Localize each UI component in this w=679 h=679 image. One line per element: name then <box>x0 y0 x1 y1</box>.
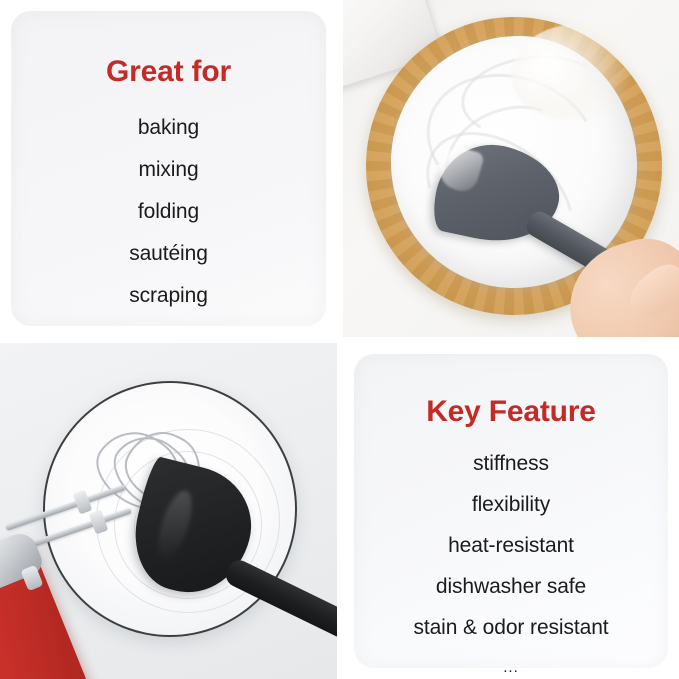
product-feature-infographic: Great for baking mixing folding sautéing… <box>0 0 679 679</box>
list-item: sautéing <box>11 243 326 264</box>
list-item: baking <box>11 117 326 138</box>
thumb <box>621 257 679 327</box>
great-for-ellipsis: ... <box>161 329 177 337</box>
key-feature-list: stiffness flexibility heat-resistant dis… <box>354 453 668 658</box>
key-feature-ellipsis: ... <box>503 660 519 675</box>
great-for-list: baking mixing folding sautéing scraping <box>11 117 326 327</box>
great-for-panel-background: Great for baking mixing folding sautéing… <box>0 0 337 337</box>
key-feature-title: Key Feature <box>426 397 596 427</box>
sugar-crumb-edge <box>511 24 637 120</box>
key-feature-card: Key Feature stiffness flexibility heat-r… <box>354 354 668 668</box>
panel-great-for: Great for baking mixing folding sautéing… <box>0 0 337 337</box>
key-feature-content: Key Feature stiffness flexibility heat-r… <box>354 354 668 668</box>
list-item: mixing <box>11 159 326 180</box>
list-item: scraping <box>11 285 326 306</box>
wrapper-text-secondary: grams <box>343 0 364 43</box>
key-feature-panel-background: Key Feature stiffness flexibility heat-r… <box>343 343 679 679</box>
list-item: stain & odor resistant <box>354 617 668 638</box>
great-for-card: Great for baking mixing folding sautéing… <box>11 11 326 326</box>
list-item: stiffness <box>354 453 668 474</box>
list-item: folding <box>11 201 326 222</box>
great-for-title: Great for <box>106 57 231 87</box>
photo-mixer-bowl <box>0 343 337 679</box>
frosting-photo-canvas: he grams <box>343 0 679 337</box>
list-item: flexibility <box>354 494 668 515</box>
mixer-photo-canvas <box>0 343 337 679</box>
photo-frosting-cookie: he grams <box>343 0 679 337</box>
mixer-body-stripe <box>0 601 18 679</box>
list-item: heat-resistant <box>354 535 668 556</box>
panel-key-feature: Key Feature stiffness flexibility heat-r… <box>343 343 679 679</box>
list-item: dishwasher safe <box>354 576 668 597</box>
great-for-content: Great for baking mixing folding sautéing… <box>11 11 326 326</box>
